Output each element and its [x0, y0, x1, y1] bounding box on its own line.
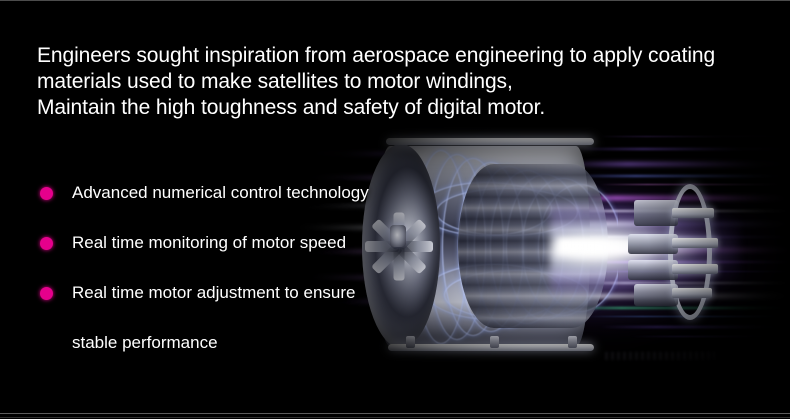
- heading-line-2: materials used to make satellites to mot…: [37, 69, 767, 95]
- list-item-label: Real time monitoring of motor speed: [72, 232, 346, 254]
- housing-foot: [406, 336, 415, 348]
- list-item-label: Advanced numerical control technology: [72, 182, 369, 204]
- top-border-line: [0, 0, 790, 1]
- housing-foot: [490, 336, 499, 348]
- bottom-border-line-secondary: [0, 417, 790, 418]
- output-shaft-assembly: [614, 182, 734, 312]
- bottom-border-line: [0, 413, 790, 414]
- bullet-dot-icon: [40, 237, 53, 250]
- list-item-label: Real time motor adjustment to ensure: [72, 282, 355, 304]
- page-title: Engineers sought inspiration from aerosp…: [37, 43, 767, 121]
- bullet-dot-icon: [40, 187, 53, 200]
- list-item-continuation-label: stable performance: [72, 332, 218, 354]
- housing-rail-top: [386, 138, 594, 145]
- promo-banner: Engineers sought inspiration from aerosp…: [0, 0, 790, 419]
- motor-hub: [390, 225, 406, 247]
- housing-foot: [568, 336, 577, 348]
- motor-assembly: [362, 130, 662, 362]
- bullet-dot-icon: [40, 287, 53, 300]
- heading-line-1: Engineers sought inspiration from aerosp…: [37, 43, 767, 69]
- heading-line-3: Maintain the high toughness and safety o…: [37, 95, 767, 121]
- engraved-microtext: [605, 352, 715, 360]
- digital-motor-cutaway-render: [300, 118, 790, 378]
